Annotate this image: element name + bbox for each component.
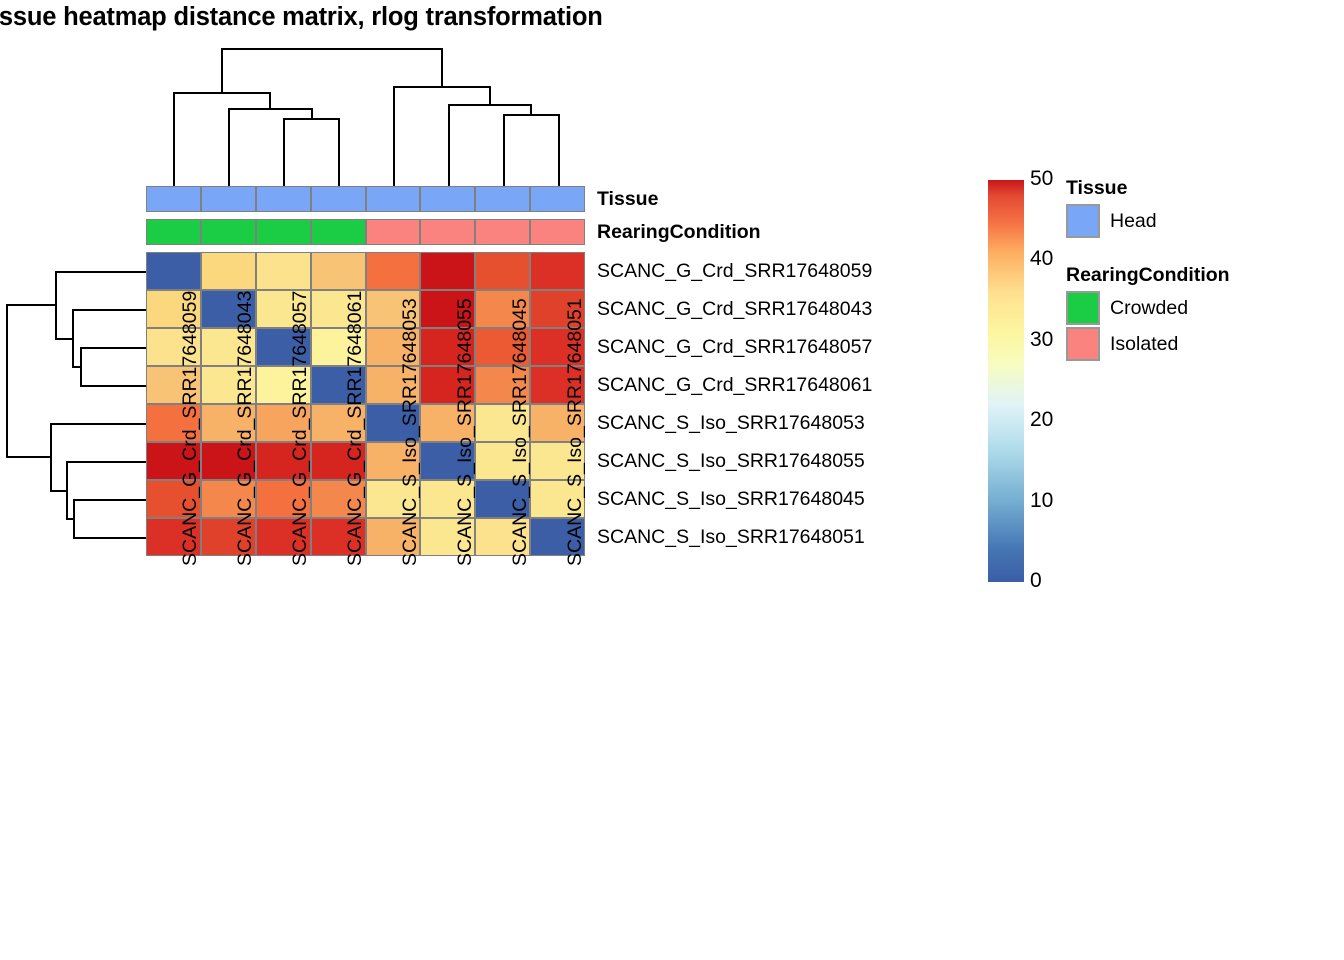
- legend-swatch: [1066, 291, 1100, 325]
- legend-label: Isolated: [1110, 331, 1178, 357]
- legend-title: Tissue: [1066, 175, 1127, 201]
- legend-swatch: [1066, 204, 1100, 238]
- legend-label: Head: [1110, 208, 1157, 234]
- legend-swatch: [1066, 327, 1100, 361]
- legend-panel: TissueHeadRearingConditionCrowdedIsolate…: [0, 0, 1344, 960]
- legend-title: RearingCondition: [1066, 262, 1230, 288]
- legend-label: Crowded: [1110, 295, 1188, 321]
- heatmap-figure: issue heatmap distance matrix, rlog tran…: [0, 0, 1344, 960]
